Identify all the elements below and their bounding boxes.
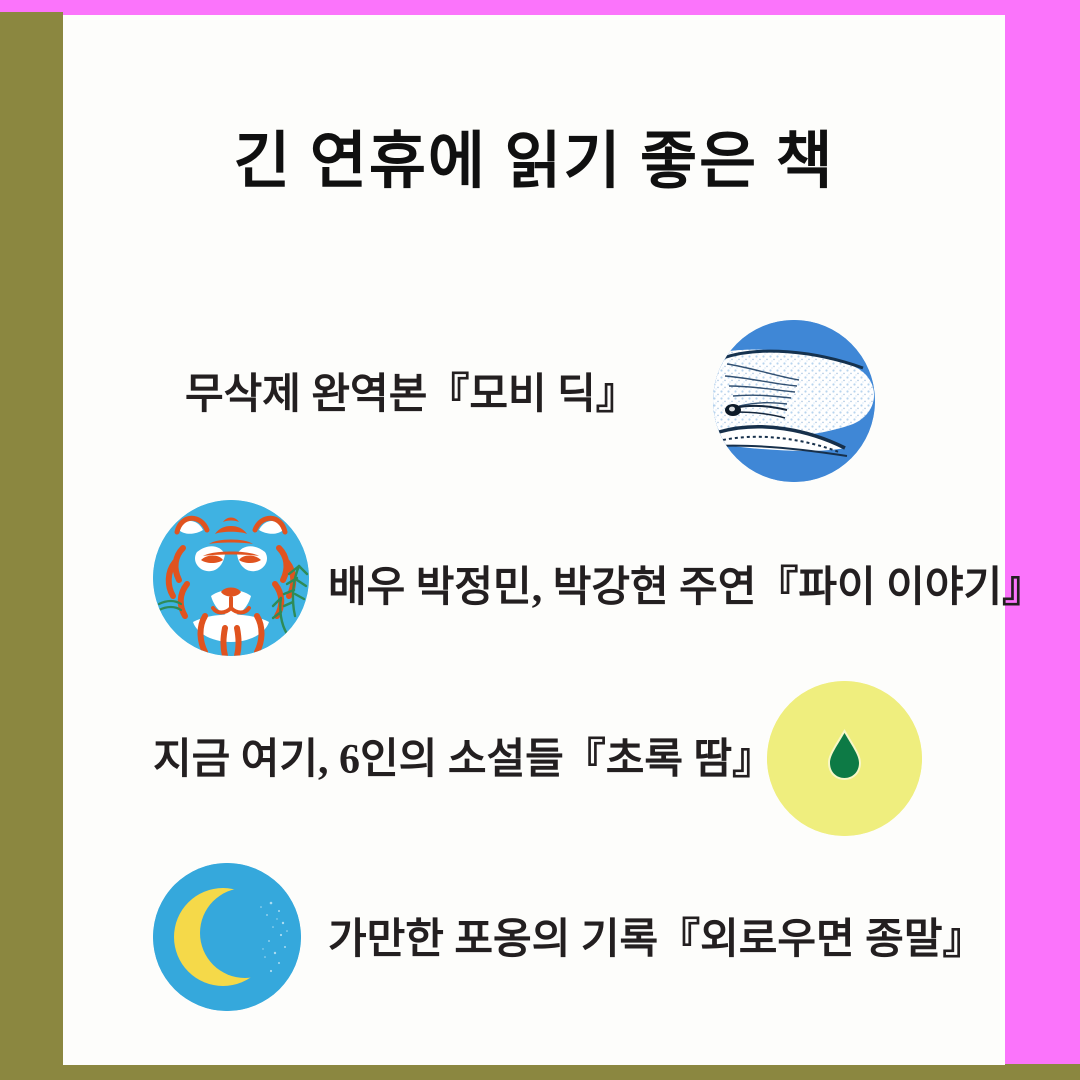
crescent-moon-icon — [153, 863, 301, 1011]
tiger-icon — [153, 500, 309, 656]
book-title-green-sweat: 지금 여기, 6인의 소설들『초록 땀』 — [153, 725, 774, 786]
book-title-life-of-pi: 배우 박정민, 박강현 주연『파이 이야기』 — [328, 553, 1044, 614]
frame-band-olive-left — [0, 12, 63, 1080]
frame-band-olive-bottom — [0, 1064, 1080, 1080]
green-drop-icon — [767, 681, 922, 836]
whale-icon — [713, 320, 875, 482]
frame-band-pink-top — [0, 0, 1080, 15]
book-title-lonely-end: 가만한 포옹의 기록『외로우면 종말』 — [328, 905, 984, 966]
poster-canvas: 긴 연휴에 읽기 좋은 책 무삭제 완역본『모비 딕』 — [0, 0, 1080, 1080]
page-title: 긴 연휴에 읽기 좋은 책 — [63, 110, 1005, 200]
poster-card: 긴 연휴에 읽기 좋은 책 무삭제 완역본『모비 딕』 — [63, 15, 1005, 1065]
book-title-moby-dick: 무삭제 완역본『모비 딕』 — [185, 360, 638, 421]
frame-band-pink-right — [1004, 0, 1080, 1068]
